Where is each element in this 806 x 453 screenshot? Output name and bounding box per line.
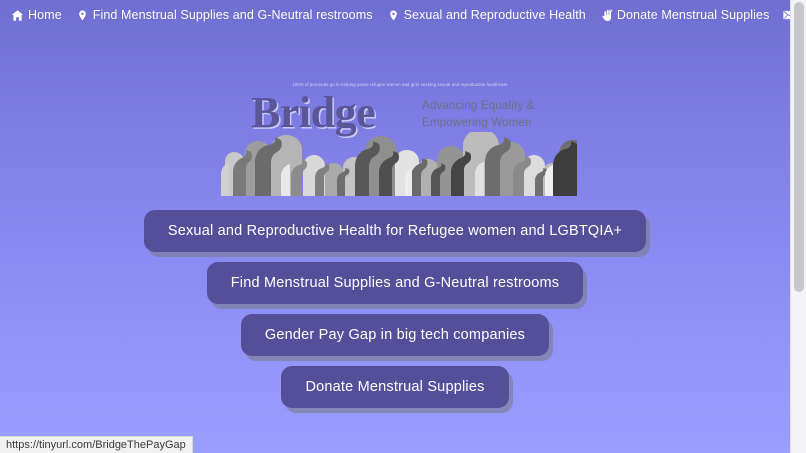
nav-item-home-label: Home [28,8,62,22]
call-to-action-button-stack: Sexual and Reproductive Health for Refug… [0,210,790,408]
button-find-menstrual-supplies[interactable]: Find Menstrual Supplies and G-Neutral re… [207,262,584,304]
page-root: Home Find Menstrual Supplies and G-Neutr… [0,0,806,453]
vertical-scrollbar-thumb[interactable] [794,2,804,292]
location-pin-icon [387,8,400,22]
brand-logo-wordmark: Bridge [251,91,375,135]
brand-tagline: Advancing Equality & Empowering Women [422,98,535,132]
brand-tagline-line-1: Advancing Equality & [422,98,535,115]
button-donate-menstrual-supplies[interactable]: Donate Menstrual Supplies [281,366,508,408]
women-silhouettes-illustration [219,132,577,196]
hand-pointer-icon [600,8,613,22]
location-pin-icon [76,8,89,22]
button-gender-pay-gap[interactable]: Gender Pay Gap in big tech companies [241,314,549,356]
nav-item-sexual-reproductive-health-label: Sexual and Reproductive Health [404,8,586,22]
nav-item-donate-supplies[interactable]: Donate Menstrual Supplies [593,0,777,30]
nav-item-sexual-reproductive-health[interactable]: Sexual and Reproductive Health [380,0,593,30]
button-sexual-reproductive-health[interactable]: Sexual and Reproductive Health for Refug… [144,210,646,252]
brand-tagline-line-2: Empowering Women [422,115,535,132]
nav-item-find-supplies[interactable]: Find Menstrual Supplies and G-Neutral re… [69,0,380,30]
nav-item-home[interactable]: Home [4,0,69,30]
home-icon [11,8,24,22]
browser-status-bar: https://tinyurl.com/BridgeThePayGap [0,436,193,453]
nav-item-donate-supplies-label: Donate Menstrual Supplies [617,8,770,22]
status-bar-url: https://tinyurl.com/BridgeThePayGap [6,439,186,451]
hero-section: 100% of proceeds go to helping assist re… [0,76,790,201]
nav-item-find-supplies-label: Find Menstrual Supplies and G-Neutral re… [93,8,373,22]
brand-banner: 100% of proceeds go to helping assist re… [219,76,577,196]
vertical-scrollbar-track[interactable] [790,0,806,453]
top-navigation-bar: Home Find Menstrual Supplies and G-Neutr… [0,0,790,30]
